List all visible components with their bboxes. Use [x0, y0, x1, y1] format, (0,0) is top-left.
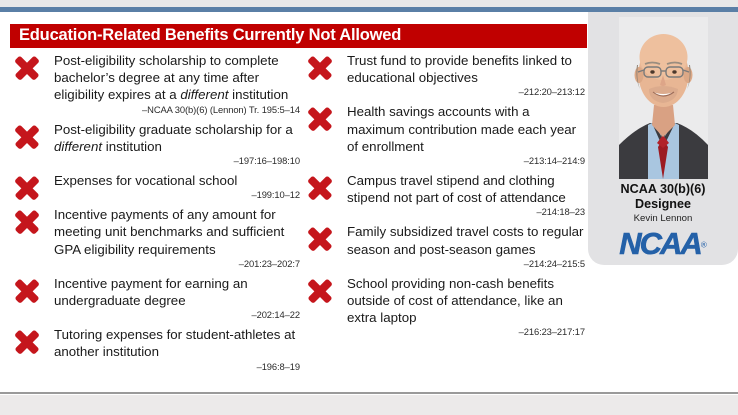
list-item-text: Post-eligibility scholarship to complete…	[54, 52, 302, 104]
page-title: Education-Related Benefits Currently Not…	[19, 26, 401, 45]
slide-header-bar: Education-Related Benefits Currently Not…	[10, 24, 587, 48]
list-item-text: Tutoring expenses for student-athletes a…	[54, 326, 302, 360]
list-item: Health savings accounts with a maximum c…	[303, 103, 587, 167]
list-item: Post-eligibility scholarship to complete…	[10, 52, 302, 116]
top-chrome-strip	[0, 0, 738, 7]
red-x-icon	[305, 104, 335, 134]
list-item: Family subsidized travel costs to regula…	[303, 223, 587, 269]
citation: –201:23–202:7	[54, 258, 302, 270]
red-x-icon	[12, 276, 42, 306]
bullet-column-right: Trust fund to provide benefits linked to…	[303, 52, 587, 343]
citation: –213:14–214:9	[347, 155, 587, 167]
citation: –214:18–23	[347, 206, 587, 218]
red-x-icon	[12, 173, 42, 203]
list-item: Campus travel stipend and clothing stipe…	[303, 172, 587, 218]
list-item: Post-eligibility graduate scholarship fo…	[10, 121, 302, 167]
red-x-icon	[305, 276, 335, 306]
list-item-text: Post-eligibility graduate scholarship fo…	[54, 121, 302, 155]
citation: –212:20–213:12	[347, 86, 587, 98]
list-item: Incentive payments of any amount for mee…	[10, 206, 302, 270]
registered-trademark-icon: ®	[701, 241, 707, 250]
citation: –NCAA 30(b)(6) (Lennon) Tr. 195:5–14	[54, 104, 302, 116]
citation: –197:16–198:10	[54, 155, 302, 167]
designee-title-line2: Designee	[588, 197, 738, 212]
avatar	[619, 17, 708, 179]
bottom-chrome-strip	[0, 394, 738, 415]
list-item-text: Incentive payments of any amount for mee…	[54, 206, 302, 258]
ncaa-logo: NCAA®	[588, 224, 738, 264]
red-x-icon	[12, 207, 42, 237]
red-x-icon	[305, 53, 335, 83]
list-item: Tutoring expenses for student-athletes a…	[10, 326, 302, 372]
list-item-text: Trust fund to provide benefits linked to…	[347, 52, 587, 86]
list-item-text: Family subsidized travel costs to regula…	[347, 223, 587, 257]
list-item-text: Campus travel stipend and clothing stipe…	[347, 172, 587, 206]
slide-canvas: Education-Related Benefits Currently Not…	[0, 0, 738, 415]
designee-title-line1: NCAA 30(b)(6)	[588, 182, 738, 197]
red-x-icon	[305, 224, 335, 254]
designee-title: NCAA 30(b)(6) Designee	[588, 182, 738, 212]
bottom-chrome-highlight	[0, 394, 738, 395]
citation: –202:14–22	[54, 309, 302, 321]
list-item: Trust fund to provide benefits linked to…	[303, 52, 587, 98]
red-x-icon	[12, 327, 42, 357]
ncaa-wordmark: NCAA	[619, 226, 701, 261]
red-x-icon	[12, 53, 42, 83]
list-item-text: Incentive payment for earning an undergr…	[54, 275, 302, 309]
list-item: Expenses for vocational school–199:10–12	[10, 172, 302, 201]
list-item-text: Expenses for vocational school	[54, 172, 302, 189]
list-item-text: Health savings accounts with a maximum c…	[347, 103, 587, 155]
citation: –199:10–12	[54, 189, 302, 201]
red-x-icon	[12, 122, 42, 152]
red-x-icon	[305, 173, 335, 203]
citation: –216:23–217:17	[347, 326, 587, 338]
citation: –214:24–215:5	[347, 258, 587, 270]
list-item-text: School providing non-cash benefits outsi…	[347, 275, 587, 327]
list-item: School providing non-cash benefits outsi…	[303, 275, 587, 339]
bullet-column-left: Post-eligibility scholarship to complete…	[10, 52, 302, 378]
list-item: Incentive payment for earning an undergr…	[10, 275, 302, 321]
citation: –196:8–19	[54, 361, 302, 373]
designee-name: Kevin Lennon	[588, 213, 738, 224]
